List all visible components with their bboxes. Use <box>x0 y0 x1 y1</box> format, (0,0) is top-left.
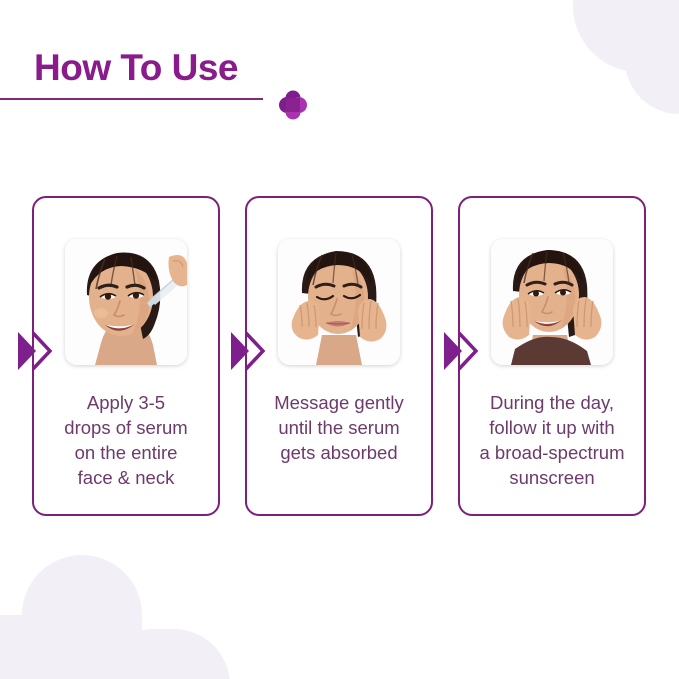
step-2-photo <box>278 239 400 365</box>
decorative-blob-top-right-a <box>573 0 679 72</box>
clover-plus-icon <box>278 90 308 120</box>
double-chevron-right-icon <box>229 330 265 372</box>
decorative-blob-bottom-left-b <box>0 615 78 679</box>
step-card-1: Apply 3-5 drops of serum on the entire f… <box>32 196 220 516</box>
decorative-blob-bottom-left-a <box>22 555 142 679</box>
step-3-caption: During the day, follow it up with a broa… <box>448 390 656 490</box>
step-3-photo <box>491 239 613 365</box>
decorative-blob-bottom-left-c <box>98 629 230 679</box>
page-title: How To Use <box>34 46 238 90</box>
step-1-photo <box>65 239 187 365</box>
step-card-2: Message gently until the serum gets abso… <box>245 196 433 516</box>
how-to-use-infographic: How To Use <box>0 0 679 679</box>
title-divider <box>0 98 263 100</box>
double-chevron-right-icon <box>442 330 478 372</box>
step-card-3: During the day, follow it up with a broa… <box>458 196 646 516</box>
decorative-blob-top-right-b <box>625 6 679 114</box>
step-1-caption: Apply 3-5 drops of serum on the entire f… <box>22 390 230 490</box>
double-chevron-right-icon <box>16 330 52 372</box>
step-2-caption: Message gently until the serum gets abso… <box>235 390 443 465</box>
